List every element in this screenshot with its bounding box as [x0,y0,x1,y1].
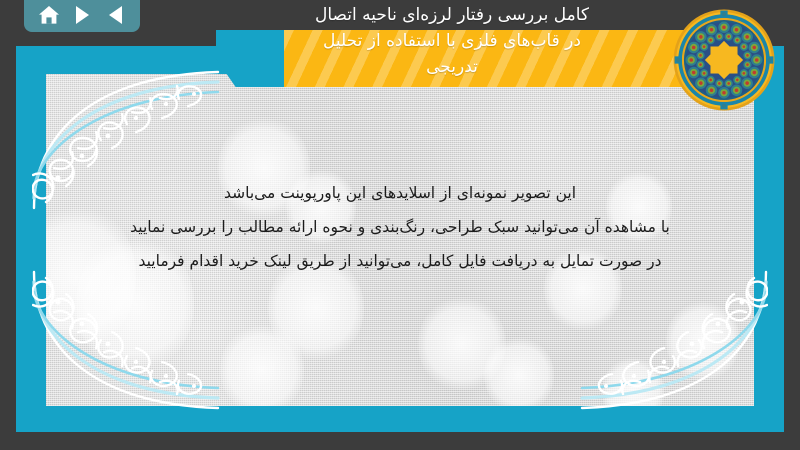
bokeh-circle [484,336,554,406]
previous-slide-button[interactable] [102,3,128,27]
next-slide-button[interactable] [69,3,95,27]
page-title: کامل بررسی رفتار لرزه‌ای ناحیه اتصال در … [228,2,676,80]
slide-frame: این تصویر نمونه‌ای از اسلایدهای این پاور… [16,46,784,432]
persian-medallion-ornament [672,8,776,112]
title-line-2: در قاب‌های فلزی با استفاده از تحلیل [228,28,676,54]
arrow-left-icon [109,6,122,24]
bokeh-circle [602,356,664,406]
slide-navigation-bar [24,0,140,32]
bokeh-circle [220,324,304,406]
title-line-1: کامل بررسی رفتار لرزه‌ای ناحیه اتصال [228,2,676,28]
slide-body-text: این تصویر نمونه‌ای از اسلایدهای این پاور… [86,176,714,278]
home-button[interactable] [36,3,62,27]
title-line-3: تدریجی [228,54,676,80]
bokeh-circle [666,300,740,382]
body-line-1: این تصویر نمونه‌ای از اسلایدهای این پاور… [86,176,714,210]
body-line-2: با مشاهده آن می‌توانید سبک طراحی، رنگ‌بن… [86,210,714,244]
arrow-right-icon [76,6,89,24]
home-icon [38,5,60,25]
slide-viewer: این تصویر نمونه‌ای از اسلایدهای این پاور… [0,0,800,450]
body-line-3: در صورت تمایل به دریافت فایل کامل، می‌تو… [86,244,714,278]
bokeh-circle [418,296,506,392]
